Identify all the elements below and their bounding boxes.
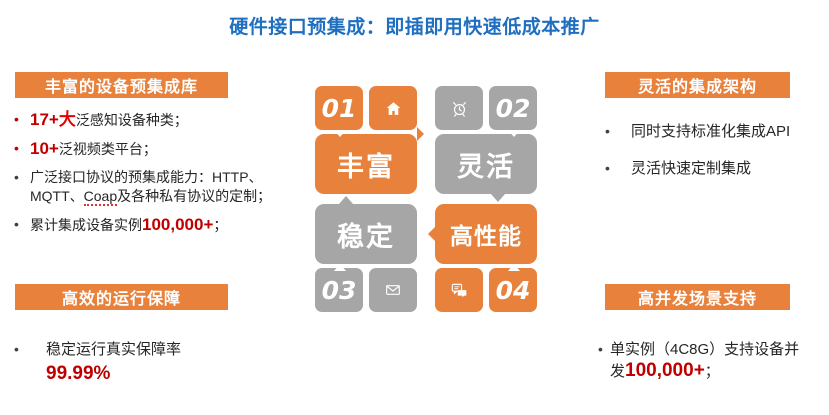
bullet-list-top-left: • 17+大泛感知设备种类； • 10+泛视频类平台； • 广泛接口协议的预集成…: [14, 110, 292, 244]
home-icon-box: [369, 86, 417, 130]
diagram-number-04: 04: [489, 268, 537, 312]
list-item-rest: 泛视频类平台；: [59, 141, 157, 157]
list-item: • 稳定运行真实保障率: [14, 340, 292, 359]
list-item-rest: 泛感知设备种类；: [76, 112, 188, 128]
list-item-text: 10+泛视频类平台；: [30, 139, 157, 159]
center-diagram: 01 丰富 02 灵活 稳定 03: [303, 86, 561, 318]
notch-04: [508, 264, 520, 271]
alarm-clock-icon-box: [435, 86, 483, 130]
diagram-number-03: 03: [315, 268, 363, 312]
bullet-marker: •: [14, 139, 30, 158]
diagram-label-03: 稳定: [315, 204, 417, 264]
arrow-up-03: [339, 196, 353, 204]
metric-value: 100,000+: [625, 360, 705, 381]
arrow-down-02: [491, 194, 505, 202]
list-item: • 99.99%: [14, 363, 292, 385]
list-item: • 10+泛视频类平台；: [14, 139, 292, 159]
diagram-number-01: 01: [315, 86, 363, 130]
list-item: • 发100,000+；: [598, 361, 829, 381]
metric-value: 99.99%: [46, 363, 110, 385]
bullet-list-top-right: • 同时支持标准化集成API • 灵活快速定制集成: [605, 122, 825, 187]
slide-canvas: 硬件接口预集成：即插即用快速低成本推广 丰富的设备预集成库 • 17+大泛感知设…: [0, 0, 829, 415]
diagram-label-02: 灵活: [435, 134, 537, 194]
metric-unit: 大: [59, 110, 76, 129]
diagram-label-01: 丰富: [315, 134, 417, 194]
list-item: • 灵活快速定制集成: [605, 159, 825, 178]
bullet-marker: •: [14, 168, 30, 187]
list-item: • 17+大泛感知设备种类；: [14, 110, 292, 130]
bullet-marker: •: [14, 340, 46, 359]
list-item: • 累计集成设备实例100,000+；: [14, 215, 292, 235]
bullet-marker: •: [14, 110, 30, 129]
panel-header-top-left: 丰富的设备预集成库: [15, 72, 228, 98]
panel-header-bottom-left: 高效的运行保障: [15, 284, 228, 310]
list-item-text: 累计集成设备实例100,000+；: [30, 215, 227, 235]
page-title: 硬件接口预集成：即插即用快速低成本推广: [0, 12, 829, 39]
bullet-marker: •: [14, 215, 30, 234]
misspelled-word: Coap: [84, 188, 117, 206]
list-item-text: 同时支持标准化集成API: [631, 122, 790, 141]
panel-header-top-right: 灵活的集成架构: [605, 72, 790, 98]
chat-bubble-icon: [451, 283, 468, 298]
arrow-right-01: [417, 127, 424, 141]
list-item-text: 灵活快速定制集成: [631, 159, 751, 178]
notch-02: [508, 130, 520, 137]
list-item: • 同时支持标准化集成API: [605, 122, 825, 141]
bullet-marker: •: [605, 159, 631, 178]
envelope-icon-box: [369, 268, 417, 312]
bullet-list-bottom-right: • 单实例（4C8G）支持设备并 • 发100,000+；: [598, 340, 829, 390]
list-item-text: 稳定运行真实保障率: [46, 340, 181, 359]
notch-01: [334, 130, 346, 137]
panel-header-bottom-right: 高并发场景支持: [605, 284, 790, 310]
list-item-text: 发100,000+；: [610, 361, 720, 381]
arrow-left-04: [428, 227, 435, 241]
bullet-marker: •: [605, 122, 631, 141]
list-item-prefix: 发: [610, 363, 625, 380]
diagram-label-04: 高性能: [435, 204, 537, 264]
list-item-line-2c: 及各种私有协议的定制；: [117, 188, 271, 204]
metric-value: 100,000+: [142, 215, 213, 234]
list-item-line-1: 广泛接口协议的预集成能力：HTTP、: [30, 169, 263, 185]
list-item-text: 17+大泛感知设备种类；: [30, 110, 188, 130]
list-item-prefix: 累计集成设备实例: [30, 217, 142, 233]
list-item: • 广泛接口协议的预集成能力：HTTP、 MQTT、Coap及各种私有协议的定制…: [14, 168, 292, 206]
metric-value: 10+: [30, 139, 59, 158]
home-icon: [385, 100, 402, 117]
envelope-icon: [385, 282, 401, 298]
list-item-suffix: ；: [213, 217, 227, 233]
bullet-marker: •: [598, 340, 610, 359]
list-item-line-2a: MQTT、: [30, 188, 84, 204]
metric-value: 17+: [30, 110, 59, 129]
list-item-text: 广泛接口协议的预集成能力：HTTP、 MQTT、Coap及各种私有协议的定制；: [30, 168, 271, 206]
bullet-list-bottom-left: • 稳定运行真实保障率 • 99.99%: [14, 340, 292, 394]
notch-03: [334, 264, 346, 271]
list-item-suffix: ；: [705, 363, 720, 380]
chat-bubble-icon-box: [435, 268, 483, 312]
list-item: • 单实例（4C8G）支持设备并: [598, 340, 829, 359]
diagram-number-02: 02: [489, 86, 537, 130]
list-item-text: 单实例（4C8G）支持设备并: [610, 340, 799, 359]
alarm-clock-icon: [451, 100, 468, 117]
